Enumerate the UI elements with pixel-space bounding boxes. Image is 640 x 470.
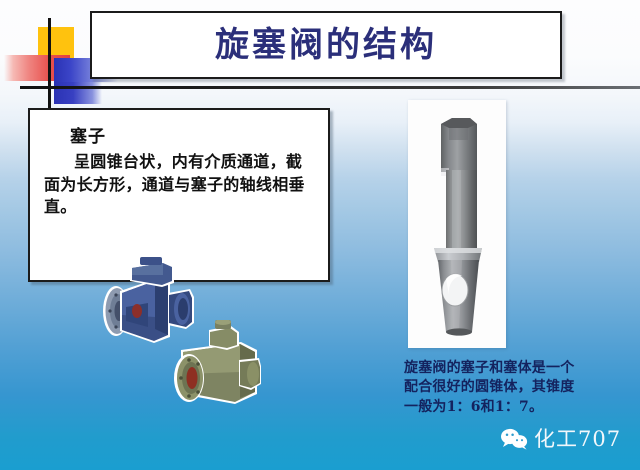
caption-line-1: 旋塞阀的塞子和塞体是一个 — [404, 359, 636, 378]
description-paragraph: 呈圆锥台状，内有介质通道，截面为长方形，通道与塞子的轴线相垂直。 — [44, 151, 316, 219]
deco-horizontal-rule — [20, 86, 640, 89]
watermark-label: 化工707 — [534, 429, 621, 450]
plug-caption: 旋塞阀的塞子和塞体是一个 配合很好的圆锥体，其锥度 一般为1：6和1：7。 — [404, 359, 636, 417]
caption-line-3: 一般为1：6和1：7。 — [404, 398, 636, 417]
deco-vertical-line — [48, 18, 51, 108]
slide-canvas: 旋塞阀的结构 塞子 呈圆锥台状，内有介质通道，截面为长方形，通道与塞子的轴线相垂… — [0, 0, 640, 470]
tapered-plug-illustration — [408, 100, 506, 348]
green-flanged-plug-valve-photo — [165, 320, 265, 412]
tapered-plug-photo — [408, 100, 506, 348]
caption-line-2: 配合很好的圆锥体，其锥度 — [404, 378, 636, 397]
title-box: 旋塞阀的结构 — [90, 11, 562, 79]
description-heading: 塞子 — [70, 122, 316, 147]
watermark: 化工707 — [500, 428, 621, 450]
page-title: 旋塞阀的结构 — [215, 28, 437, 62]
wechat-icon — [500, 428, 528, 450]
